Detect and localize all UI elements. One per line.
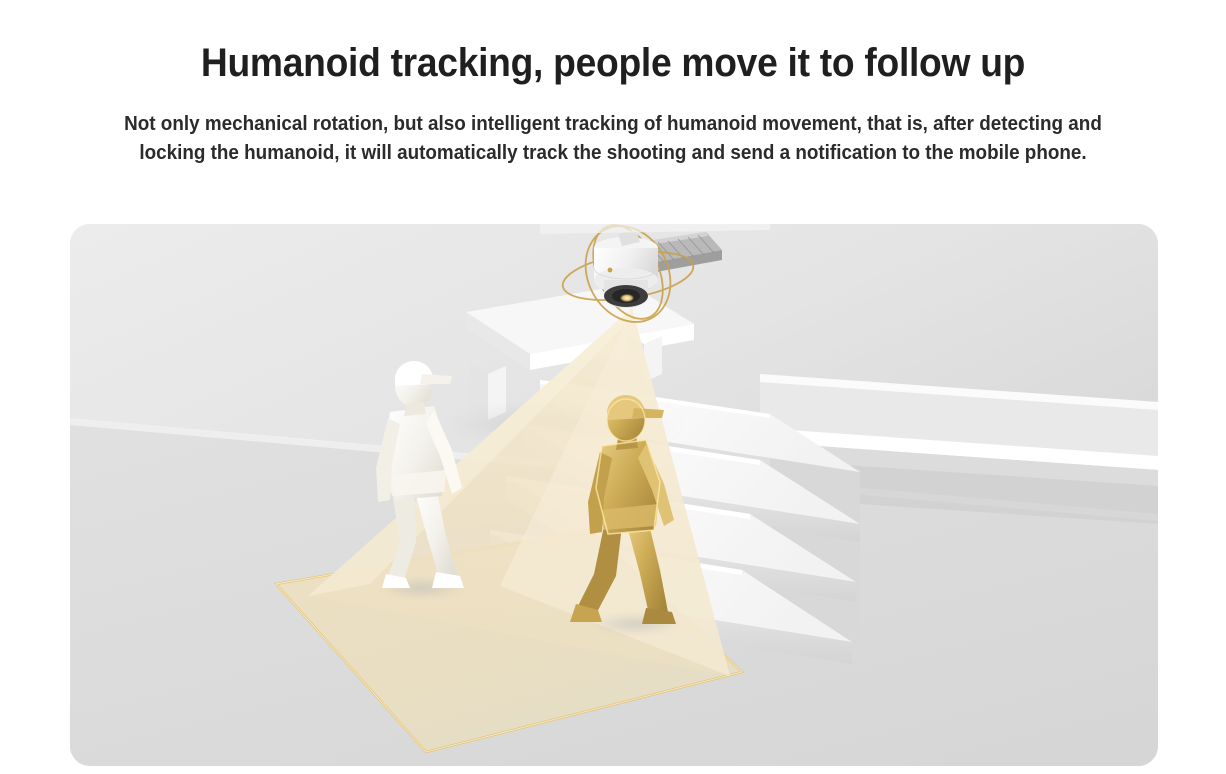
- page-root: Humanoid tracking, people move it to fol…: [0, 0, 1226, 774]
- text-block: Humanoid tracking, people move it to fol…: [0, 0, 1226, 167]
- page-title: Humanoid tracking, people move it to fol…: [43, 42, 1183, 85]
- humanoid-tracking-illustration: [70, 224, 1158, 766]
- hero-image-panel: [70, 224, 1158, 766]
- camera-lens: [620, 294, 634, 302]
- page-description: Not only mechanical rotation, but also i…: [49, 85, 1177, 167]
